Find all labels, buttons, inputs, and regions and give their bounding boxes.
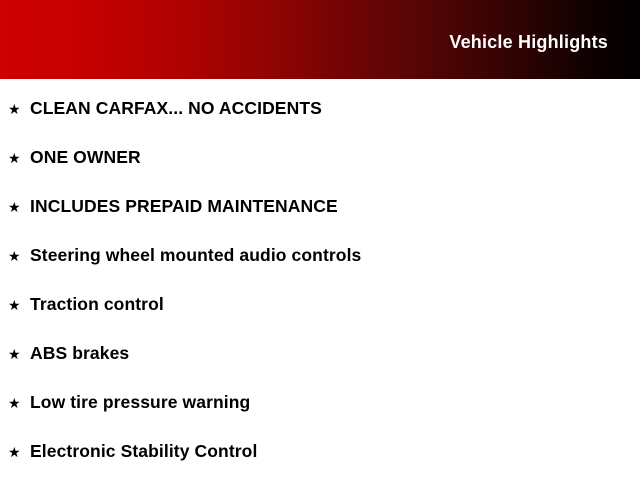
highlight-label: INCLUDES PREPAID MAINTENANCE: [30, 195, 640, 217]
list-item: ★ ABS brakes: [0, 342, 640, 391]
star-icon: ★: [8, 392, 30, 414]
highlight-label: Low tire pressure warning: [30, 391, 640, 413]
page-banner: Vehicle Highlights: [0, 0, 640, 79]
star-icon: ★: [8, 245, 30, 267]
highlight-label: Steering wheel mounted audio controls: [30, 244, 640, 266]
page-title: Vehicle Highlights: [449, 31, 608, 53]
star-icon: ★: [8, 441, 30, 463]
highlight-label: CLEAN CARFAX... NO ACCIDENTS: [30, 97, 640, 119]
list-item: ★ INCLUDES PREPAID MAINTENANCE: [0, 195, 640, 244]
list-item: ★ ONE OWNER: [0, 146, 640, 195]
list-item: ★ Traction control: [0, 293, 640, 342]
list-item: ★ Steering wheel mounted audio controls: [0, 244, 640, 293]
highlight-label: Traction control: [30, 293, 640, 315]
highlight-label: ONE OWNER: [30, 146, 640, 168]
vehicle-highlights-page: Vehicle Highlights ★ CLEAN CARFAX... NO …: [0, 0, 640, 480]
list-item: ★ Electronic Stability Control: [0, 440, 640, 489]
star-icon: ★: [8, 294, 30, 316]
list-item: ★ Low tire pressure warning: [0, 391, 640, 440]
list-item: ★ CLEAN CARFAX... NO ACCIDENTS: [0, 79, 640, 146]
star-icon: ★: [8, 98, 30, 120]
star-icon: ★: [8, 343, 30, 365]
star-icon: ★: [8, 147, 30, 169]
highlight-label: Electronic Stability Control: [30, 440, 640, 462]
vehicle-highlights-list: ★ CLEAN CARFAX... NO ACCIDENTS ★ ONE OWN…: [0, 79, 640, 489]
highlight-label: ABS brakes: [30, 342, 640, 364]
star-icon: ★: [8, 196, 30, 218]
